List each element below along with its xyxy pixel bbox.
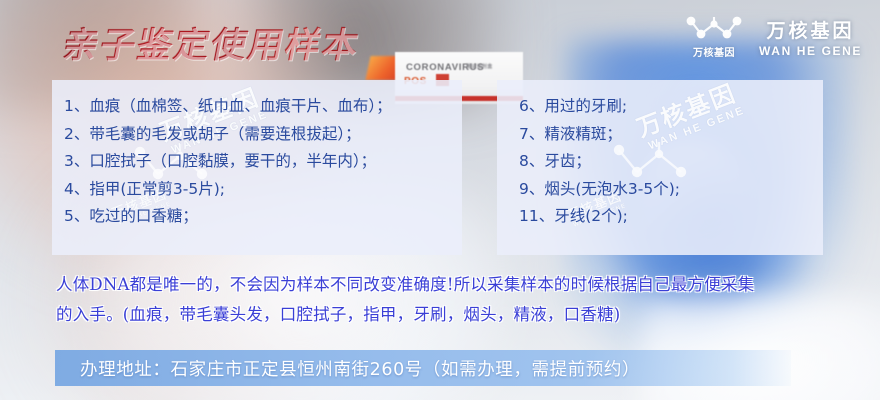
paragraph-line-1: 人体DNA都是唯一的，不会因为样本不同改变准确度!所以采集样本的时候根据自己最方… — [56, 270, 846, 300]
address-banner: 办理地址：石家庄市正定县恒州南街260号（如需办理，需提前预约） — [55, 350, 791, 386]
list-item: 6、用过的牙刷; — [519, 93, 823, 121]
list-item: 1、血痕（血棉签、纸巾血、血痕干片、血布）； — [64, 93, 462, 121]
list-item: 7、精液精斑； — [519, 121, 823, 149]
sample-list-right: 6、用过的牙刷; 7、精液精斑； 8、牙齿； 9、烟头(无泡水3-5个); 11… — [519, 93, 823, 231]
list-item: 3、口腔拭子（口腔黏膜，要干的，半年内）； — [64, 148, 462, 176]
poster-root: CORONAVIRUS 测试试剂盒 POS 亲子鉴定使用样本 — [0, 0, 880, 400]
logo-wordmark: 万核基因 WAN HE GENE — [759, 16, 862, 58]
sample-list-panel-left: 万核基因 WAN HE GENE 万核基因 WAN HE GENE 1、血痕（血… — [52, 80, 462, 255]
description-paragraph: 人体DNA都是唯一的，不会因为样本不同改变准确度!所以采集样本的时候根据自己最方… — [56, 270, 846, 330]
list-item: 5、吃过的口香糖； — [64, 203, 462, 231]
logo-name-cn: 万核基因 — [767, 16, 855, 43]
molecule-icon — [683, 14, 745, 42]
logo-mark: 万核基因 — [683, 14, 745, 59]
sample-list-left: 1、血痕（血棉签、纸巾血、血痕干片、血布）； 2、带毛囊的毛发或胡子（需要连根拔… — [64, 93, 462, 231]
address-banner-text: 办理地址：石家庄市正定县恒州南街260号（如需办理，需提前预约） — [80, 356, 640, 381]
list-item: 8、牙齿； — [519, 148, 823, 176]
list-item: 2、带毛囊的毛发或胡子（需要连根拔起）； — [64, 121, 462, 149]
page-title: 亲子鉴定使用样本 — [59, 17, 365, 68]
logo-name-en: WAN HE GENE — [759, 44, 862, 58]
brand-logo: 万核基因 万核基因 WAN HE GENE — [683, 14, 862, 59]
logo-mark-label: 万核基因 — [693, 44, 735, 59]
paragraph-line-2: 的入手。(血痕，带毛囊头发，口腔拭子，指甲，牙刷，烟头，精液，口香糖) — [56, 300, 846, 330]
sample-list-panel-right: 万核基因 WAN HE GENE 万核基因 WAN HE GENE 6、用过的牙… — [497, 80, 823, 255]
list-item: 9、烟头(无泡水3-5个); — [519, 176, 823, 204]
list-item: 11、牙线(2个); — [519, 203, 823, 231]
list-item: 4、指甲(正常剪3-5片); — [64, 176, 462, 204]
